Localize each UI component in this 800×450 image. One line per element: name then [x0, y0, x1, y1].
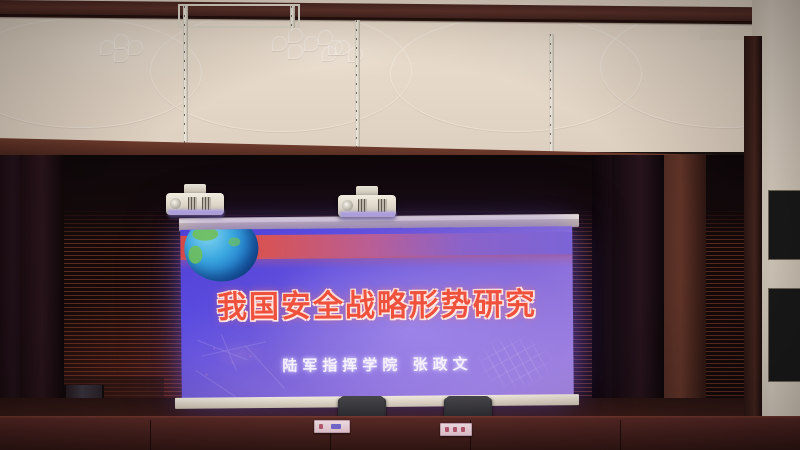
projector-vent	[378, 199, 387, 212]
projector-vent	[202, 197, 211, 210]
chair-left-back	[340, 396, 384, 418]
ceiling-mount-rod	[549, 34, 554, 152]
name-placard-right	[440, 423, 472, 436]
projector-vent	[188, 197, 197, 210]
projection-screen-assembly: 我国安全战略形势研究 陆军指挥学院 张政文	[171, 216, 594, 408]
head-table	[0, 418, 800, 450]
projection-screen: 我国安全战略形势研究 陆军指挥学院 张政文	[180, 226, 574, 402]
slide-subtitle: 陆军指挥学院 张政文	[181, 352, 573, 377]
projector-vent	[358, 199, 367, 212]
projector-light-beam	[340, 212, 396, 222]
ceiling-mount-rod	[290, 6, 295, 28]
wall-emboss-flower	[322, 40, 382, 74]
acoustic-panel-upper	[768, 190, 800, 260]
table-panel-seam	[150, 420, 151, 450]
name-placard-left	[314, 420, 350, 433]
table-panel-seam	[620, 420, 621, 450]
slide-title: 我国安全战略形势研究	[187, 278, 568, 327]
projector-lens	[170, 198, 181, 209]
acoustic-panel-lower	[768, 288, 800, 382]
ceiling-bracket-frame	[178, 16, 300, 28]
projector-lens	[342, 200, 353, 211]
chair-right-back	[446, 396, 490, 418]
right-wall-wood-edge	[744, 36, 762, 450]
conference-hall-photo: 我国安全战略形势研究 陆军指挥学院 张政文	[0, 0, 800, 450]
projector-light-beam	[168, 210, 224, 220]
wall-emboss-flower	[100, 34, 160, 64]
